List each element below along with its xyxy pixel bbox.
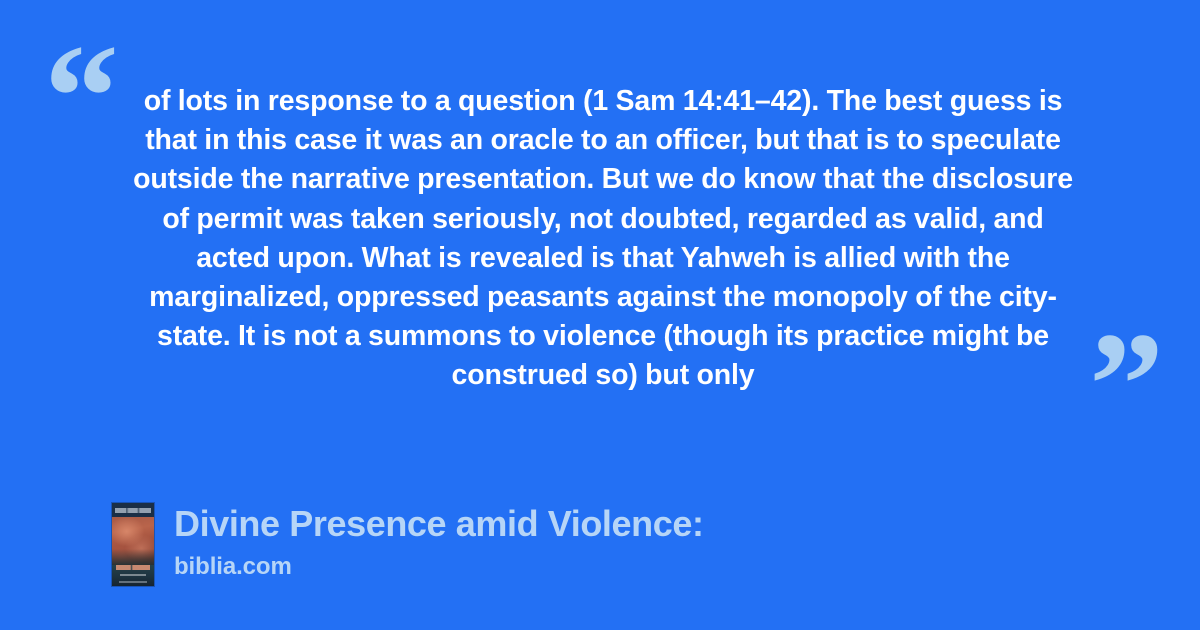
cover-footer-line (119, 581, 147, 583)
quote-text: of lots in response to a question (1 Sam… (128, 82, 1078, 396)
close-quote-icon: ” (1089, 310, 1164, 460)
cover-subtitle-line (120, 574, 146, 577)
footer-text-group: Divine Presence amid Violence: biblia.co… (174, 503, 704, 581)
quote-block: of lots in response to a question (1 Sam… (128, 82, 1078, 396)
book-title: Divine Presence amid Violence: (174, 503, 704, 545)
quote-share-card: “ of lots in response to a question (1 S… (0, 0, 1200, 630)
book-cover-thumbnail (112, 503, 154, 586)
open-quote-icon: “ (44, 22, 119, 172)
site-name: biblia.com (174, 553, 704, 581)
cover-title-line (116, 565, 150, 570)
footer-attribution: Divine Presence amid Violence: biblia.co… (112, 503, 704, 586)
cover-artwork (112, 517, 154, 565)
cover-author-line (115, 508, 151, 513)
